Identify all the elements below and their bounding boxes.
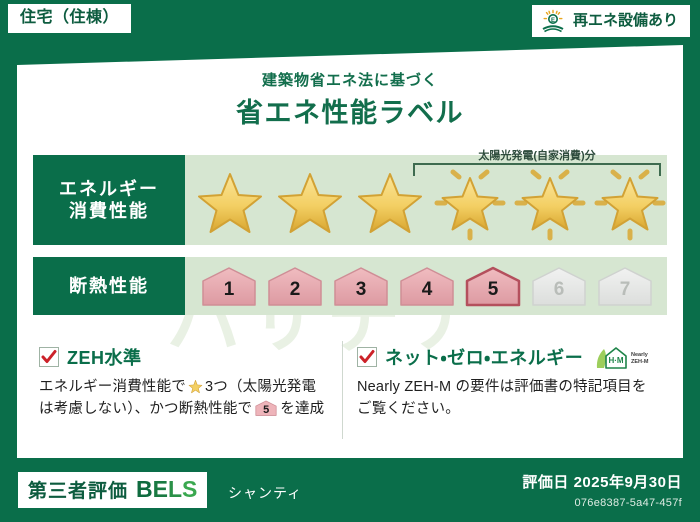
svg-text:E: E [551,18,555,24]
insulation-caption: 断熱性能 [33,257,185,315]
check-icon [359,349,375,365]
energy-performance-row: エネルギー 消費性能 太陽光発電(自家消費)分 [33,155,667,245]
inline-star-icon [187,378,204,394]
energy-stars-area: 太陽光発電(自家消費)分 [185,155,667,245]
net-zero-energy-block: ネット・ゼロ・エネルギー H·M Nearly ZEH-M Nearly [357,345,657,421]
insulation-level-4: 4 [397,263,457,309]
label-panel: パサデナ 建築物省エネ法に基づく 省エネ性能ラベル エネルギー 消費性能 太陽光… [17,45,683,458]
zeh-desc-part1: エネルギー消費性能で [39,379,186,395]
star-solar [511,158,589,242]
zeh-checkbox [39,347,59,367]
zeh-desc-part2: 3つ（太陽光発電 [205,379,316,395]
insulation-level-number: 3 [331,279,391,301]
bels-logo: BELS [136,476,197,503]
insulation-level-number: 2 [265,279,325,301]
star-filled [351,158,429,242]
insulation-level-number: 1 [199,279,259,301]
insulation-level-number: 6 [529,279,589,301]
zeh-m-logo-sub: Nearly ZEH-M [631,348,653,366]
insulation-level-5-achieved: 5 [463,263,523,309]
bels-letter-e: E [153,476,168,502]
label-title: 省エネ性能ラベル [17,91,683,130]
owner-name: シャンティ [228,483,302,503]
svg-text:ZEH-M: ZEH-M [631,359,649,365]
zeh-m-logo: H·M Nearly ZEH-M [595,344,653,370]
insulation-caption-label: 断熱性能 [69,275,149,298]
zeh-title: ZEH水準 [67,344,142,370]
solar-sun-icon: E [540,9,566,33]
inline-house-icon: 5 [254,399,278,417]
net-zero-title: ネット・ゼロ・エネルギー [385,344,583,370]
insulation-level-3: 3 [331,263,391,309]
insulation-level-6: 6 [529,263,589,309]
insulation-level-number: 4 [397,279,457,301]
star-solar [431,158,509,242]
bels-energy-label: 住宅（住棟） E 再エネ設備あり パサデナ 建築物省エネ法に基づく 省エネ性能ラ… [0,0,700,522]
insulation-levels-area: 1 2 3 [185,257,667,315]
energy-caption-line2: 消費性能 [69,200,149,223]
block-divider [342,341,343,439]
svg-text:Nearly: Nearly [631,352,649,358]
inline-house-number: 5 [254,402,278,419]
zeh-standard-block: ZEH水準 エネルギー消費性能で3つ（太陽光発電 は考慮しない）、かつ断熱性能で… [39,345,339,421]
net-zero-checkbox [357,347,377,367]
third-party-label: 第三者評価 [28,476,128,503]
evaluation-date: 評価日 2025年9月30日 [522,471,682,492]
insulation-level-7: 7 [595,263,655,309]
energy-caption: エネルギー 消費性能 [33,155,185,245]
bels-letter-b: B [136,476,153,502]
zeh-desc-part4: を達成 [280,401,324,417]
zeh-m-house-icon: H·M [595,344,629,370]
zeh-m-logo-text: H·M [609,356,624,365]
third-party-evaluation-pill: 第三者評価 BELS [18,472,207,508]
insulation-performance-row: 断熱性能 1 [33,257,667,315]
star-solar [591,158,669,242]
certificate-id: 076e8387-5a47-457f [574,497,682,509]
bels-letter-s: S [182,476,197,502]
insulation-level-2: 2 [265,263,325,309]
renewable-badge-label: 再エネ設備あり [573,13,678,30]
insulation-level-number: 7 [595,279,655,301]
zeh-description: エネルギー消費性能で3つ（太陽光発電 は考慮しない）、かつ断熱性能で5を達成 [39,376,339,421]
building-type-tag: 住宅（住棟） [8,4,131,33]
label-subtitle: 建築物省エネ法に基づく [17,69,683,90]
star-rating [185,155,667,245]
star-filled [271,158,349,242]
insulation-level-number: 5 [463,279,523,301]
net-zero-description: Nearly ZEH-M の要件は評価書の特記項目をご覧ください。 [357,376,657,421]
bels-letter-l: L [168,476,182,502]
zeh-desc-part3: は考慮しない）、かつ断熱性能で [39,401,252,417]
insulation-level-1: 1 [199,263,259,309]
renewable-energy-badge: E 再エネ設備あり [532,5,690,37]
energy-caption-line1: エネルギー [59,178,159,201]
insulation-level-scale: 1 2 3 [185,257,667,315]
star-filled [191,158,269,242]
check-icon [41,349,57,365]
